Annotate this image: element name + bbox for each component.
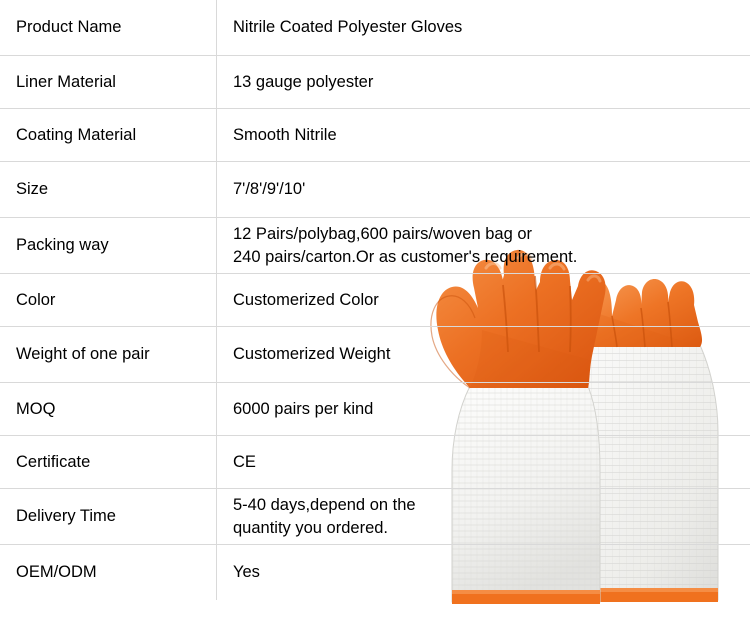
spec-value-line: 13 gauge polyester xyxy=(233,71,750,93)
spec-label: MOQ xyxy=(0,383,217,436)
table-row: Delivery Time 5-40 days,depend on the qu… xyxy=(0,489,750,545)
spec-value-line: quantity you ordered. xyxy=(233,517,750,539)
table-row: Certificate CE xyxy=(0,436,750,489)
spec-value-line: 7'/8'/9'/10' xyxy=(233,178,750,200)
spec-value-line: CE xyxy=(233,451,750,473)
spec-label: Color xyxy=(0,274,217,327)
spec-label: Weight of one pair xyxy=(0,327,217,383)
spec-value: 12 Pairs/polybag,600 pairs/woven bag or … xyxy=(217,218,750,274)
spec-label: Product Name xyxy=(0,0,217,56)
spec-value: Customerized Color xyxy=(217,274,750,327)
spec-value-line: 12 Pairs/polybag,600 pairs/woven bag or xyxy=(233,223,750,245)
spec-value-line: Customerized Color xyxy=(233,289,750,311)
spec-value: 13 gauge polyester xyxy=(217,56,750,109)
spec-value-line: Customerized Weight xyxy=(233,343,750,365)
spec-value-line: Nitrile Coated Polyester Gloves xyxy=(233,16,750,38)
spec-value: Smooth Nitrile xyxy=(217,109,750,162)
table-row: Weight of one pair Customerized Weight xyxy=(0,327,750,383)
spec-value-line: 6000 pairs per kind xyxy=(233,398,750,420)
spec-value: Customerized Weight xyxy=(217,327,750,383)
table-row: Color Customerized Color xyxy=(0,274,750,327)
spec-label: OEM/ODM xyxy=(0,545,217,601)
spec-value-line: 240 pairs/carton.Or as customer's requir… xyxy=(233,246,750,268)
spec-value-line: Yes xyxy=(233,561,750,583)
spec-value: CE xyxy=(217,436,750,489)
table-row: Coating Material Smooth Nitrile xyxy=(0,109,750,162)
spec-label: Size xyxy=(0,162,217,218)
spec-value: 7'/8'/9'/10' xyxy=(217,162,750,218)
table-row: MOQ 6000 pairs per kind xyxy=(0,383,750,436)
table-row: Liner Material 13 gauge polyester xyxy=(0,56,750,109)
table-row: OEM/ODM Yes xyxy=(0,545,750,601)
spec-label: Certificate xyxy=(0,436,217,489)
spec-value-line: 5-40 days,depend on the xyxy=(233,494,750,516)
product-specification-table: Product Name Nitrile Coated Polyester Gl… xyxy=(0,0,750,600)
spec-label: Delivery Time xyxy=(0,489,217,545)
table-row: Size 7'/8'/9'/10' xyxy=(0,162,750,218)
table-row: Packing way 12 Pairs/polybag,600 pairs/w… xyxy=(0,218,750,274)
spec-label: Packing way xyxy=(0,218,217,274)
table-row: Product Name Nitrile Coated Polyester Gl… xyxy=(0,0,750,56)
spec-label: Liner Material xyxy=(0,56,217,109)
spec-value: Yes xyxy=(217,545,750,601)
spec-value: 6000 pairs per kind xyxy=(217,383,750,436)
spec-value: Nitrile Coated Polyester Gloves xyxy=(217,0,750,56)
spec-value: 5-40 days,depend on the quantity you ord… xyxy=(217,489,750,545)
spec-value-line: Smooth Nitrile xyxy=(233,124,750,146)
spec-label: Coating Material xyxy=(0,109,217,162)
